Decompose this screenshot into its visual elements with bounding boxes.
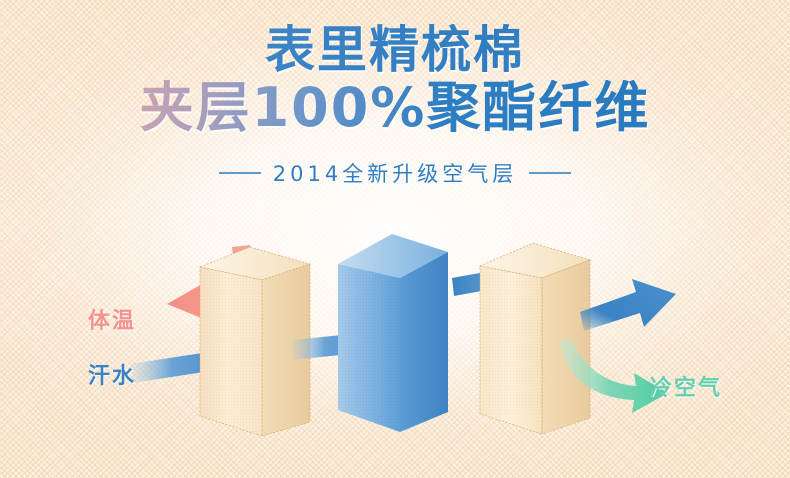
- cold-air-label: 冷空气: [650, 370, 722, 402]
- subtitle-row: 2014全新升级空气层: [0, 158, 790, 188]
- vapor-out-arrow: [580, 279, 676, 331]
- title-line-2: 夹层100%聚酯纤维: [0, 80, 790, 136]
- poster-canvas: 表里精梳棉 夹层100%聚酯纤维 2014全新升级空气层: [0, 0, 790, 478]
- sweat-label: 汗水: [88, 358, 136, 390]
- layer-block-polyester: [338, 234, 448, 432]
- subtitle-text: 2014全新升级空气层: [273, 158, 517, 188]
- subtitle-rule-left: [219, 172, 261, 174]
- body-temp-label: 体温: [88, 303, 136, 335]
- title-line-1: 表里精梳棉: [0, 24, 790, 76]
- layer-block-cotton-blend: [480, 243, 590, 434]
- layer-diagram-svg: [0, 200, 790, 478]
- subtitle-rule-right: [529, 172, 571, 174]
- layer-diagram: 纯棉层 聚酯纤维层 棉混纺层: [0, 200, 790, 478]
- title-block: 表里精梳棉 夹层100%聚酯纤维: [0, 24, 790, 136]
